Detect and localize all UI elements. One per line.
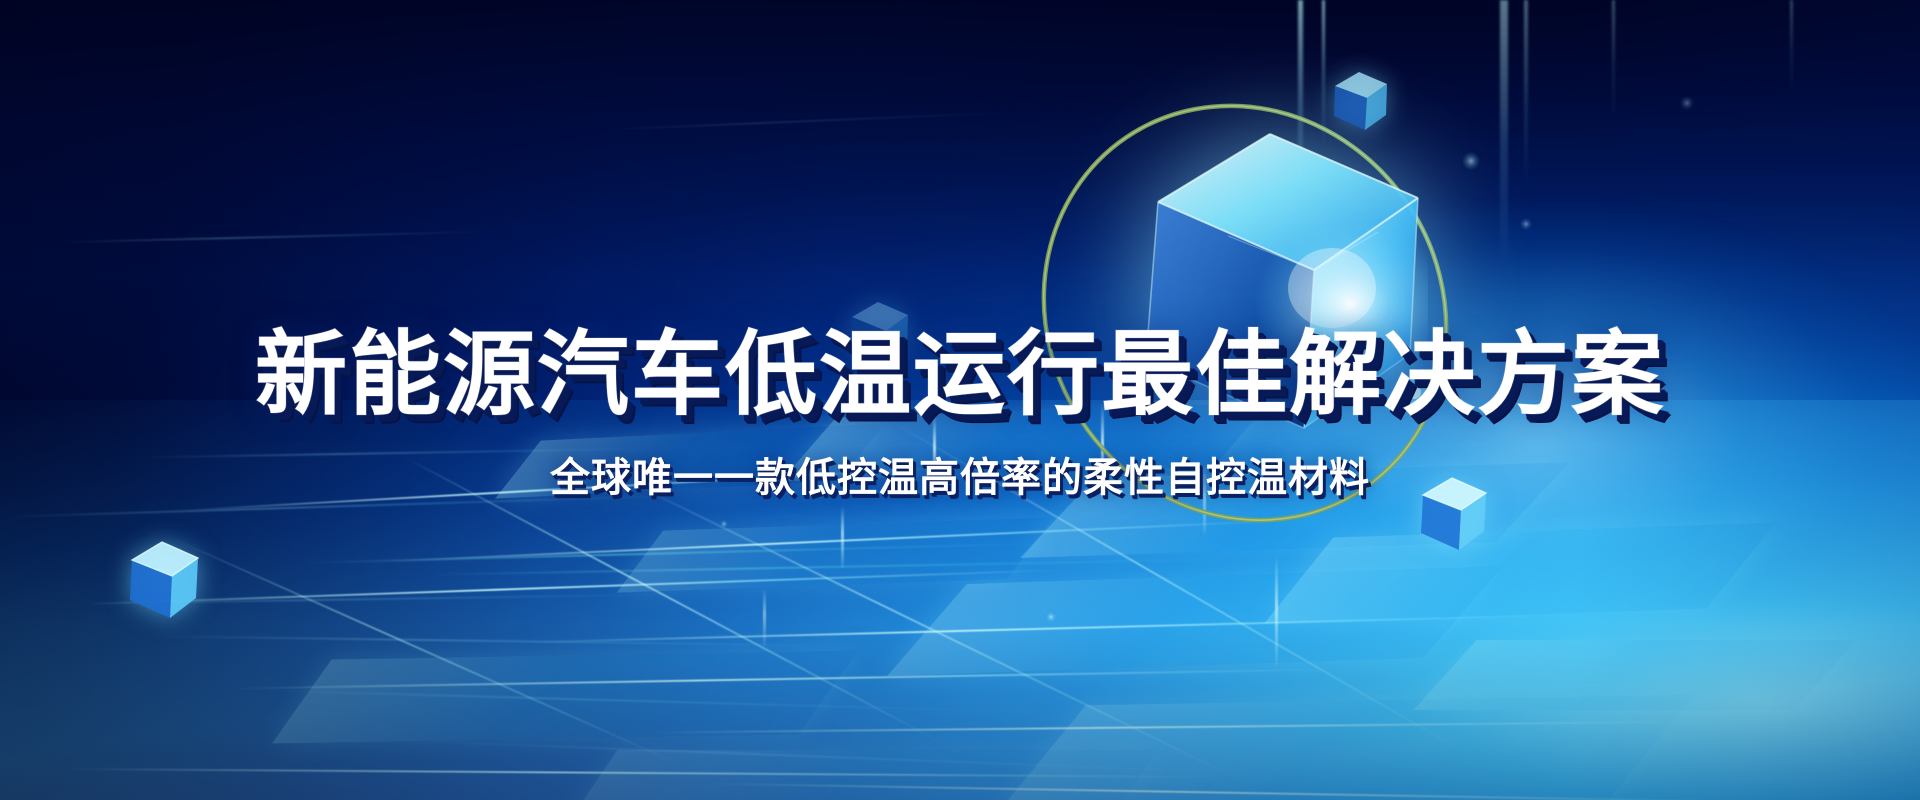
banner-text-block: 新能源汽车低温运行最佳解决方案 全球唯一一款低控温高倍率的柔性自控温材料	[0, 0, 1920, 800]
hero-banner: 新能源汽车低温运行最佳解决方案 全球唯一一款低控温高倍率的柔性自控温材料	[0, 0, 1920, 800]
banner-subtitle: 全球唯一一款低控温高倍率的柔性自控温材料	[550, 445, 1370, 503]
banner-title: 新能源汽车低温运行最佳解决方案	[255, 329, 1665, 423]
